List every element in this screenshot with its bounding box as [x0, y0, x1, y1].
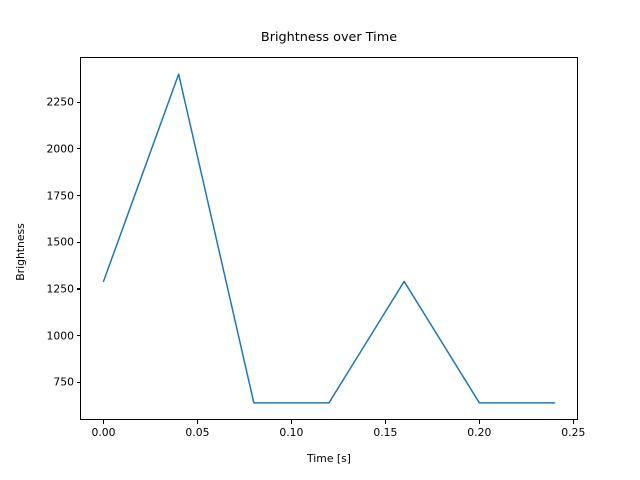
- matplotlib-figure: Brightness over Time 0.000.050.100.150.2…: [0, 0, 640, 480]
- y-tick-mark: [77, 335, 81, 336]
- x-tick-label: 0.15: [373, 426, 397, 439]
- y-tick-label: 2250: [34, 96, 74, 109]
- x-axis-label: Time [s]: [80, 452, 578, 465]
- x-tick-mark: [103, 420, 104, 424]
- y-tick-mark: [77, 195, 81, 196]
- x-tick-label: 0.20: [467, 426, 491, 439]
- x-tick-mark: [573, 420, 574, 424]
- y-tick-label: 1750: [34, 189, 74, 202]
- x-tick-mark: [291, 420, 292, 424]
- chart-title: Brightness over Time: [80, 30, 578, 45]
- y-tick-label: 1250: [34, 282, 74, 295]
- y-axis-label: Brightness: [14, 223, 27, 281]
- y-tick-label: 1000: [34, 329, 74, 342]
- y-tick-label: 2000: [34, 142, 74, 155]
- y-tick-mark: [77, 288, 81, 289]
- x-tick-label: 0.00: [91, 426, 115, 439]
- x-tick-label: 0.10: [279, 426, 303, 439]
- x-tick-mark: [385, 420, 386, 424]
- x-tick-label: 0.05: [185, 426, 209, 439]
- y-tick-label: 1500: [34, 236, 74, 249]
- axes-frame: [80, 57, 578, 420]
- x-tick-mark: [479, 420, 480, 424]
- y-tick-mark: [77, 148, 81, 149]
- y-tick-mark: [77, 102, 81, 103]
- y-tick-mark: [77, 382, 81, 383]
- y-tick-label: 750: [34, 376, 74, 389]
- x-tick-label: 0.25: [561, 426, 585, 439]
- x-tick-mark: [197, 420, 198, 424]
- y-tick-mark: [77, 242, 81, 243]
